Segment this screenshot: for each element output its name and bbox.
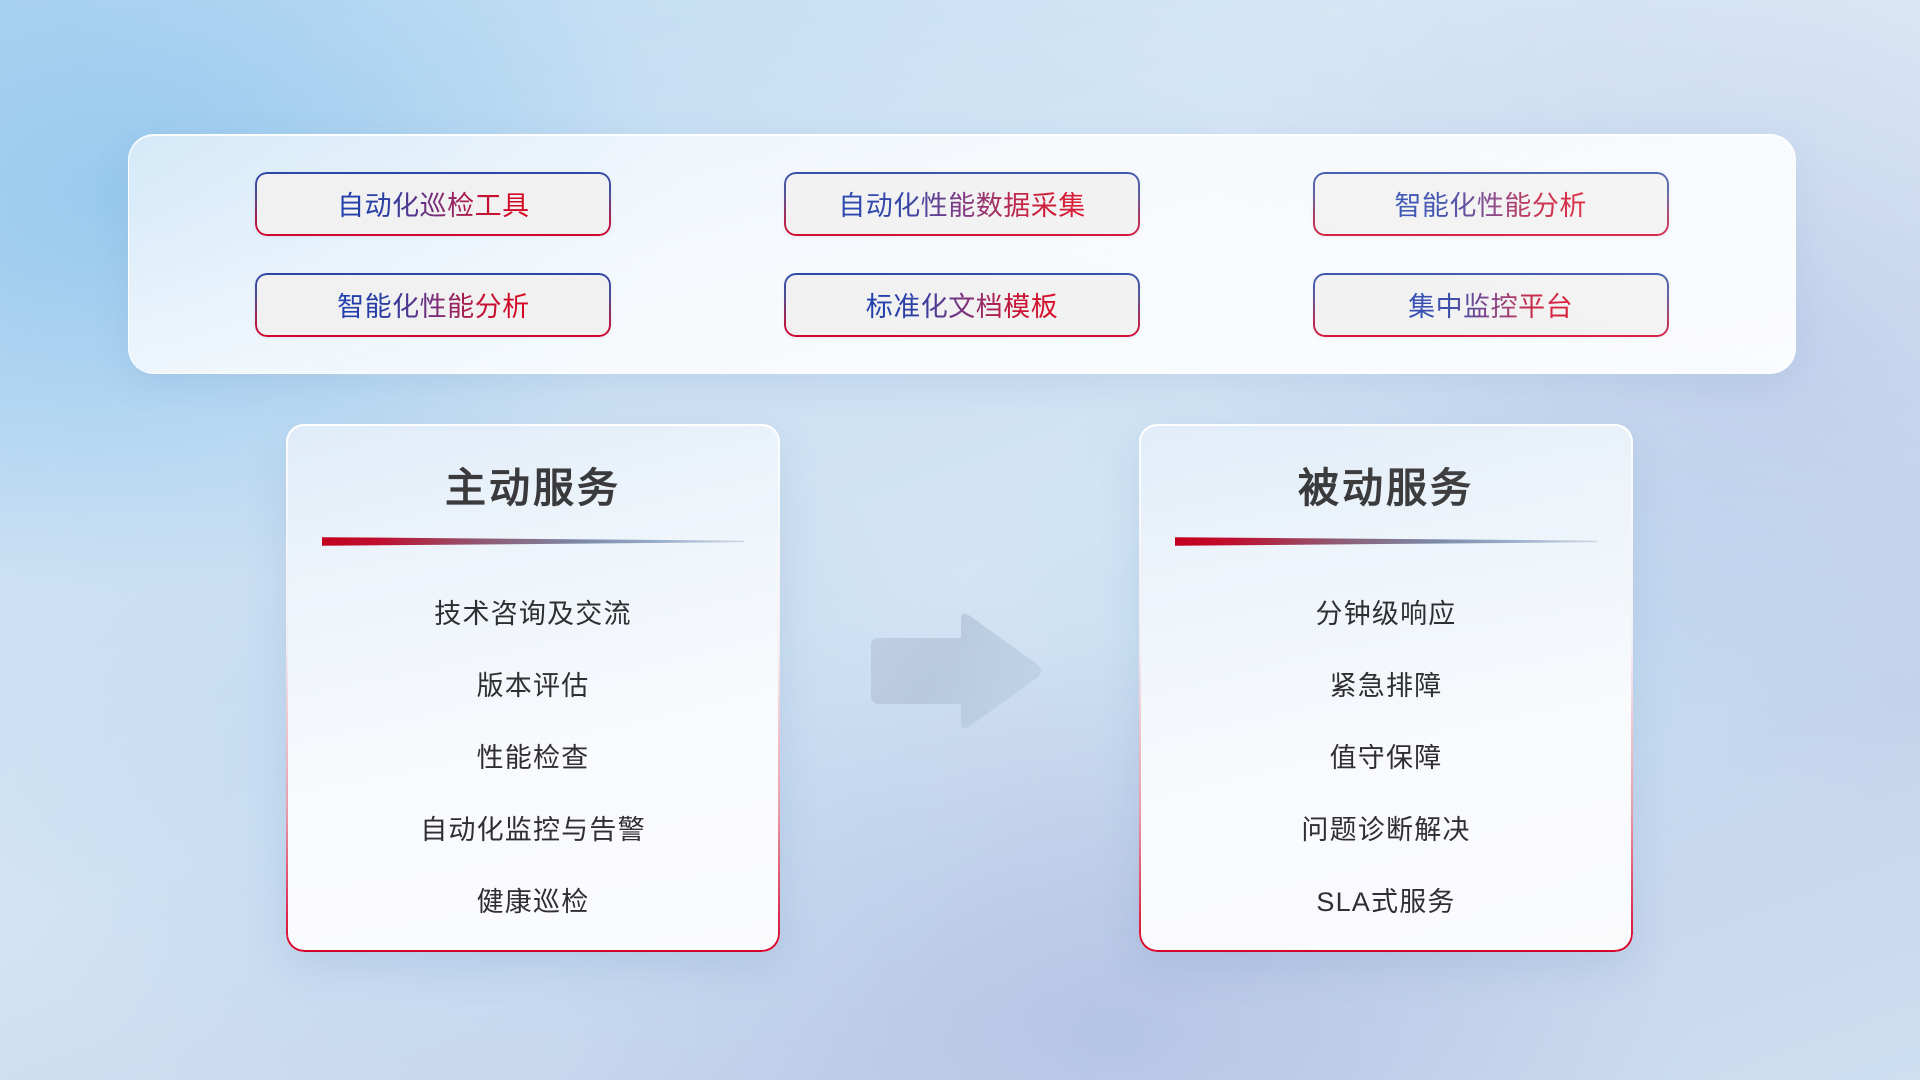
list-item: 分钟级响应 [1165, 578, 1607, 650]
arrow-right-icon [865, 608, 1045, 734]
capability-chip-label: 智能化性能分析 [337, 285, 530, 324]
service-card-title: 被动服务 [1165, 454, 1607, 514]
service-card-passive: 被动服务 分钟级响应 紧急排障 值守保障 [1139, 424, 1633, 952]
service-card-list: 分钟级响应 紧急排障 值守保障 问题诊断解决 SLA式服务 [1165, 578, 1607, 938]
list-item: 版本评估 [312, 650, 754, 722]
capability-chip-label: 智能化性能分析 [1394, 184, 1587, 223]
list-item: 问题诊断解决 [1165, 794, 1607, 866]
capabilities-panel: 自动化巡检工具 自动化性能数据采集 智能化性能分析 智能化性能分析 标准化文档模… [128, 134, 1796, 374]
service-card-title: 主动服务 [312, 454, 754, 514]
capability-chip-label: 标准化文档模板 [866, 285, 1059, 324]
title-underline-rule [322, 536, 744, 548]
service-card-active: 主动服务 技术咨询及交流 版本评估 性能检查 [286, 424, 780, 952]
list-item: 紧急排障 [1165, 650, 1607, 722]
list-item: 值守保障 [1165, 722, 1607, 794]
list-item: 技术咨询及交流 [312, 578, 754, 650]
list-item: 健康巡检 [312, 866, 754, 938]
list-item: 自动化监控与告警 [312, 794, 754, 866]
capability-chip[interactable]: 标准化文档模板 [784, 273, 1140, 337]
capability-chip-label: 集中监控平台 [1408, 285, 1573, 324]
capability-chip[interactable]: 智能化性能分析 [255, 273, 611, 337]
title-underline-rule [1175, 536, 1597, 548]
capability-chip[interactable]: 自动化巡检工具 [255, 172, 611, 236]
capability-chip[interactable]: 智能化性能分析 [1313, 172, 1669, 236]
slide-canvas: 自动化巡检工具 自动化性能数据采集 智能化性能分析 智能化性能分析 标准化文档模… [0, 0, 1920, 1080]
list-item: 性能检查 [312, 722, 754, 794]
capability-chip[interactable]: 集中监控平台 [1313, 273, 1669, 337]
capability-chip-label: 自动化巡检工具 [337, 184, 530, 223]
capability-chip[interactable]: 自动化性能数据采集 [784, 172, 1140, 236]
capability-chip-label: 自动化性能数据采集 [838, 184, 1086, 223]
list-item: SLA式服务 [1165, 866, 1607, 938]
service-card-list: 技术咨询及交流 版本评估 性能检查 自动化监控与告警 健康巡检 [312, 578, 754, 938]
